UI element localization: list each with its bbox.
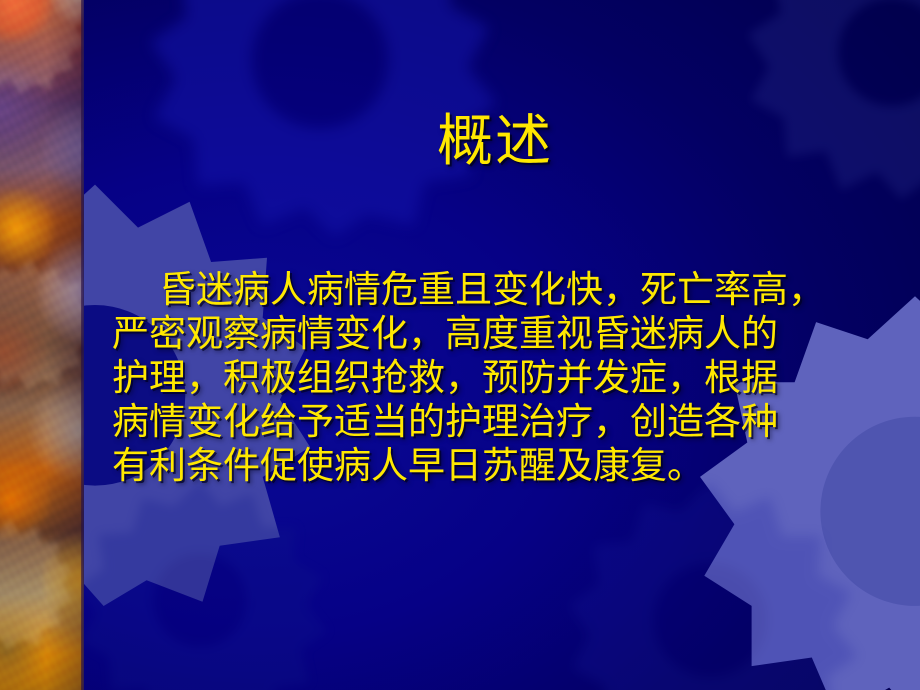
presentation-slide: 概述 昏迷病人病情危重且变化快，死亡率高， 严密观察病情变化，高度重视昏迷病人的… [0,0,920,690]
slide-title: 概述 [100,112,890,172]
slide-body-text: 昏迷病人病情危重且变化快，死亡率高， 严密观察病情变化，高度重视昏迷病人的 护理… [112,268,902,488]
slide-content: 概述 昏迷病人病情危重且变化快，死亡率高， 严密观察病情变化，高度重视昏迷病人的… [0,0,920,690]
